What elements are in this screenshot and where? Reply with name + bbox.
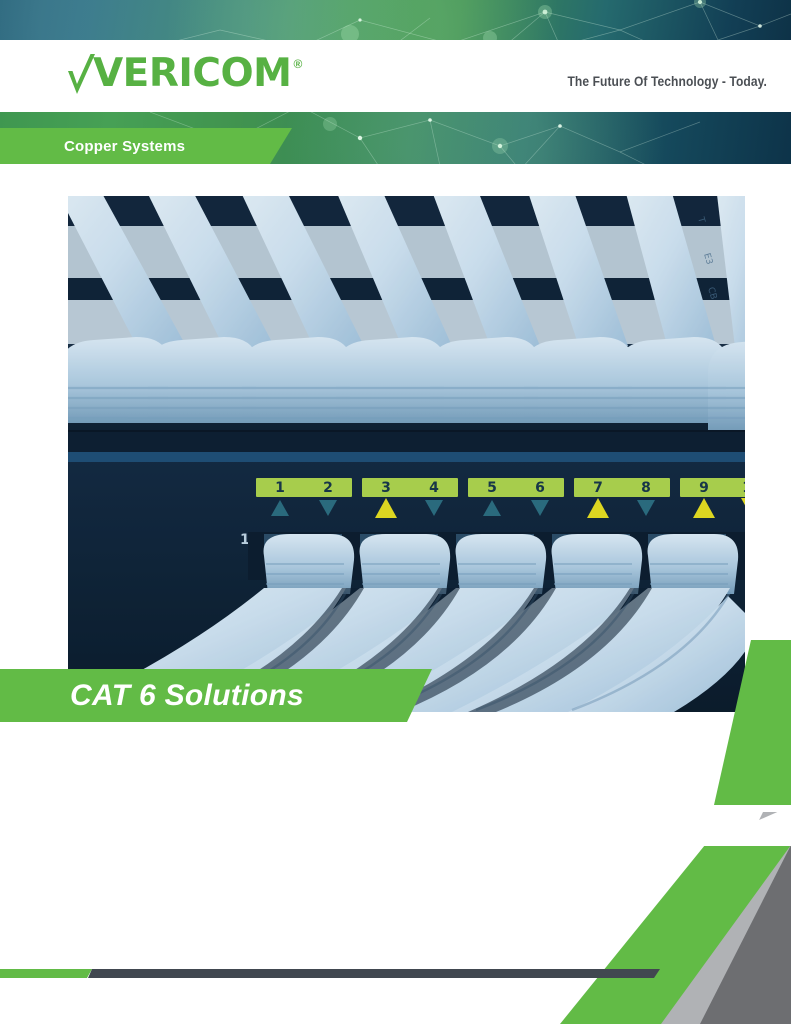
header-network-band — [0, 0, 791, 40]
deco-green-chevron-bottom — [560, 845, 791, 1024]
page-title: CAT 6 Solutions — [70, 679, 304, 713]
deco-gray-light — [660, 812, 791, 1024]
footer-rule-green — [0, 969, 92, 978]
vericom-logo[interactable]: VERICOM ® — [66, 54, 302, 98]
category-tab: Copper Systems — [0, 128, 292, 164]
title-banner: CAT 6 Solutions — [0, 669, 432, 722]
footer-rule-dark — [88, 969, 660, 978]
document-cover-page: VERICOM ® The Future Of Technology - Tod… — [0, 0, 791, 1024]
network-constellation-graphic — [0, 0, 791, 40]
logo-row: VERICOM ® The Future Of Technology - Tod… — [0, 40, 791, 112]
tagline: The Future Of Technology - Today. — [568, 73, 767, 89]
deco-gray-dark — [700, 845, 791, 1024]
category-tab-label: Copper Systems — [64, 138, 185, 155]
logo-wordmark: VERICOM — [93, 54, 291, 93]
registered-trademark-mark: ® — [293, 58, 302, 70]
checkmark-icon — [66, 54, 96, 98]
patch-panel-photo: T E3 CB 10 11 12 13 14 15 16 — [68, 196, 745, 712]
hero-photo: T E3 CB 10 11 12 13 14 15 16 — [68, 196, 745, 712]
